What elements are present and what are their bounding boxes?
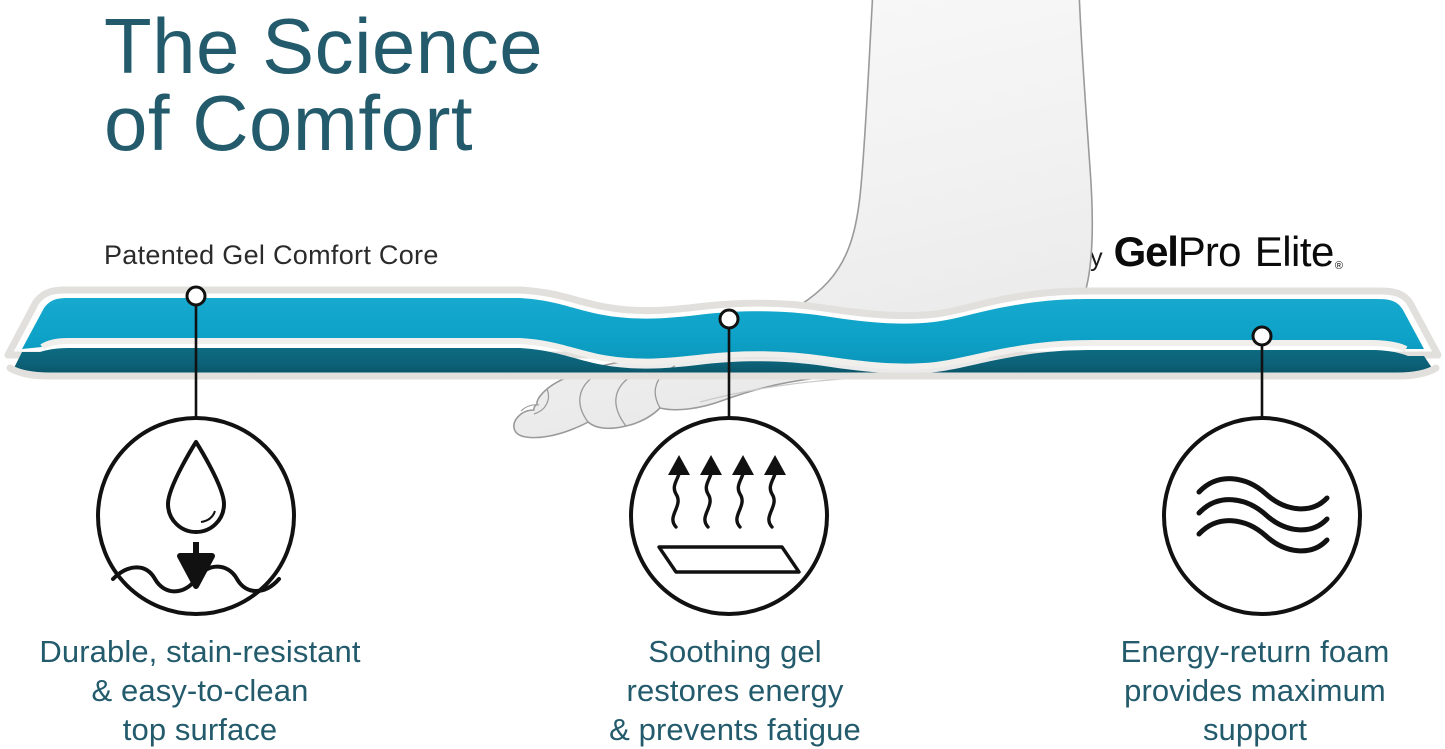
feature-caption-1: Durable, stain-resistant & easy-to-clean… <box>0 632 400 749</box>
feature-caption-3: Energy-return foam provides maximum supp… <box>1065 632 1445 749</box>
foam-waves-icon <box>1199 479 1327 551</box>
page-title: The Science of Comfort <box>104 8 724 162</box>
core-label: Patented Gel Comfort Core <box>104 240 439 271</box>
feature-caption-2: Soothing gel restores energy & prevents … <box>570 632 900 749</box>
callout-soothing-gel <box>720 310 738 420</box>
feature-icon-3 <box>1164 418 1360 614</box>
brand-by-text: by <box>1076 244 1102 273</box>
registered-trademark-icon: ® <box>1335 260 1343 276</box>
brand-logo: by Gel Pro Elite ® <box>1076 228 1343 276</box>
callout-top-surface <box>187 287 205 420</box>
feature-icon-1 <box>98 418 294 614</box>
water-droplet-repel-icon <box>113 442 279 591</box>
brand-gel-text: Gel <box>1114 228 1178 276</box>
callout-energy-return-foam <box>1253 327 1271 420</box>
infographic-root: The Science of Comfort Patented Gel Comf… <box>0 0 1445 749</box>
brand-elite-text: Elite <box>1255 228 1334 276</box>
feature-icon-2 <box>631 418 827 614</box>
rising-energy-waves-icon <box>659 455 799 572</box>
mat-cross-section <box>8 290 1438 376</box>
brand-pro-text: Pro <box>1178 228 1241 276</box>
